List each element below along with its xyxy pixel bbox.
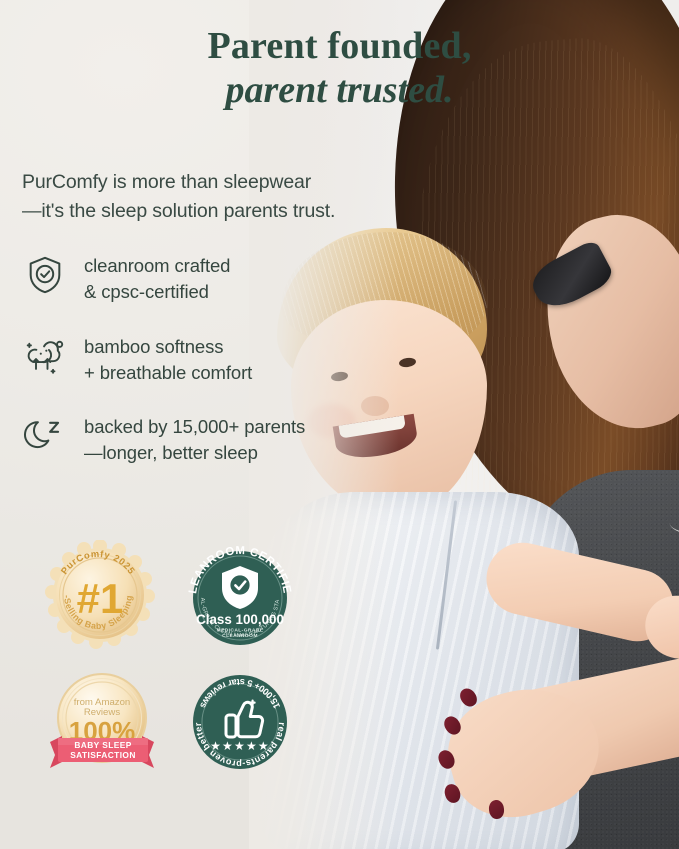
five-star-reviews-badge: 15,000+ 5 star reviews real parents-prov… [182,664,300,774]
shield-check-icon [22,252,68,298]
ribbon-line-1: BABY SLEEP [74,740,131,750]
feature-text-bamboo: bamboo softness + breathable comfort [84,333,252,387]
cleanroom-certified-badge: CLEANROOM CERTIFIED MEDICAL-GRADE CLEAN … [182,540,300,650]
bamboo-softness-icon [22,333,68,379]
page-title: Parent founded, parent trusted. [0,24,679,112]
best-selling-badge: PurComfy 2025 Best-Selling Baby Sleeping… [44,540,162,650]
moon-sleep-icon [22,413,68,459]
badge-center-value: #1 [77,575,124,622]
badge-center-value: Class 100,000 [196,612,284,627]
subheadline-line-2: —it's the sleep solution parents trust. [22,200,335,222]
headline-line-2: parent trusted. [0,68,679,112]
feature-item-bamboo: bamboo softness + breathable comfort [22,333,382,387]
feature-item-cleanroom: cleanroom crafted & cpsc-certified [22,252,382,306]
feature-line-2: + breathable comfort [84,362,252,383]
badge-subtext-1: MEDICAL-GRADE [217,628,264,634]
feature-line-2: —longer, better sleep [84,442,258,463]
ribbon-line-2: SATISFACTION [70,750,136,760]
subheadline-line-1: PurComfy is more than sleepwear [22,171,311,193]
feature-line-1: backed by 15,000+ parents [84,416,305,437]
feature-line-2: & cpsc-certified [84,281,209,302]
feature-list: cleanroom crafted & cpsc-certified [22,252,382,494]
trust-badge-grid: PurComfy 2025 Best-Selling Baby Sleeping… [44,540,304,774]
brand-panel: Parent founded, parent trusted. PurComfy… [0,0,679,849]
feature-line-1: bamboo softness [84,336,223,357]
feature-item-sleep: backed by 15,000+ parents —longer, bette… [22,413,382,467]
subheadline: PurComfy is more than sleepwear —it's th… [22,168,422,226]
feature-line-1: cleanroom crafted [84,255,230,276]
feature-text-cleanroom: cleanroom crafted & cpsc-certified [84,252,230,306]
headline-line-1: Parent founded, [0,24,679,68]
badge-subtext-2: CLEANROOM [222,633,258,639]
star-rating: ★★★★★ [210,739,270,753]
feature-text-sleep: backed by 15,000+ parents —longer, bette… [84,413,305,467]
amazon-satisfaction-badge: from Amazon Reviews 100% BABY SLEEP SATI… [44,664,162,774]
